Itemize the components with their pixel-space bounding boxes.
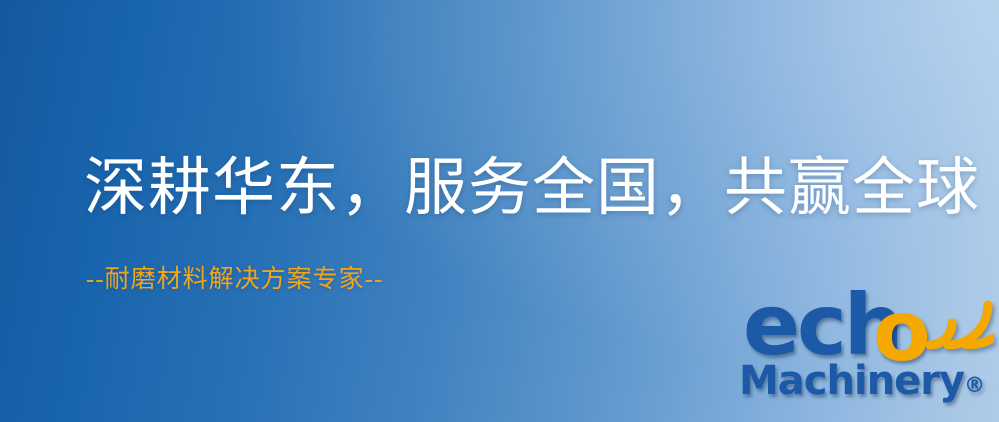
logo-text-machinery: Machinery® [739, 361, 985, 401]
signal-arcs-icon [922, 283, 994, 349]
registered-trademark-mark: ® [964, 373, 985, 397]
logo-machinery-word: Machinery [739, 358, 964, 404]
banner-subtitle: --耐磨材料解决方案专家-- [86, 265, 383, 295]
company-logo[interactable]: ech o Machinery® [737, 287, 995, 422]
banner-headline: 深耕华东，服务全国，共赢全球 [84, 152, 980, 224]
hero-banner: 深耕华东，服务全国，共赢全球 --耐磨材料解决方案专家-- ech o Mach… [0, 0, 999, 422]
